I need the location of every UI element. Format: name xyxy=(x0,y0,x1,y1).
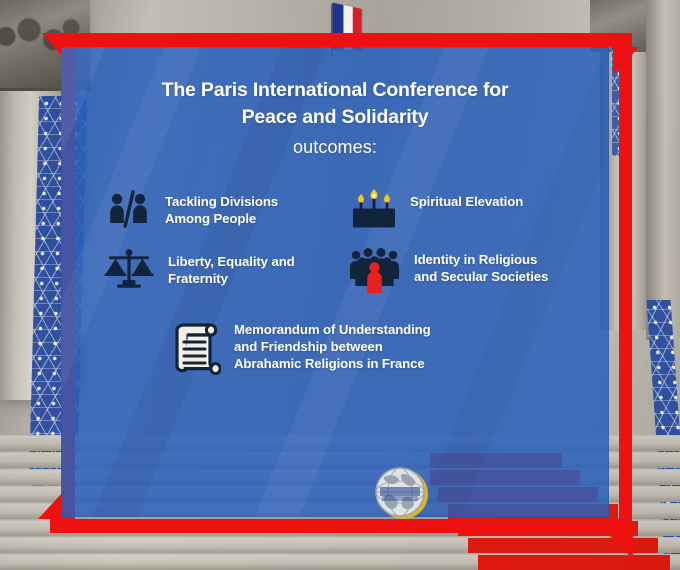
outcome-item-spiritual-elevation: Spiritual Elevation xyxy=(351,187,523,236)
title-line-1: The Paris International Conference for xyxy=(162,79,509,101)
page-title: The Paris International Conference for P… xyxy=(61,77,609,130)
outcome-label: Tackling Divisions Among People xyxy=(165,187,278,227)
outcome-label: Spiritual Elevation xyxy=(410,187,523,210)
scroll-document-icon xyxy=(175,319,221,380)
blue-content-panel: The Paris International Conference for P… xyxy=(61,47,609,517)
outcome-item-liberty-equality-fraternity: Liberty, Equality and Fraternity xyxy=(103,247,295,298)
balance-scales-icon xyxy=(103,247,155,298)
frame-arrow-bottom-right-icon xyxy=(605,531,633,559)
outcome-label: Liberty, Equality and Fraternity xyxy=(168,247,295,287)
candles-icon xyxy=(351,187,397,236)
frame-arrow-top-right-icon xyxy=(613,47,639,75)
poster-graphic: The Paris International Conference for P… xyxy=(0,0,680,570)
frame-bar-top xyxy=(62,33,632,47)
outcome-label: Identity in Religious and Secular Societ… xyxy=(414,245,548,285)
frame-bar-bottom xyxy=(50,519,620,533)
frame-bar-right xyxy=(619,43,632,533)
outcome-item-identity-religious-secular: Identity in Religious and Secular Societ… xyxy=(349,245,548,298)
outcome-item-memorandum: Memorandum of Understanding and Friendsh… xyxy=(175,319,431,380)
outcome-label: Memorandum of Understanding and Friendsh… xyxy=(234,319,431,372)
poster-content: The Paris International Conference for P… xyxy=(61,47,609,517)
two-people-divided-icon xyxy=(106,187,152,238)
crowd-of-people-icon xyxy=(349,245,401,298)
subtitle: outcomes: xyxy=(61,137,609,158)
globe-seal-logo xyxy=(372,465,430,521)
title-line-2: Peace and Solidarity xyxy=(61,104,609,131)
outcome-item-tackling-divisions: Tackling Divisions Among People xyxy=(106,187,278,238)
